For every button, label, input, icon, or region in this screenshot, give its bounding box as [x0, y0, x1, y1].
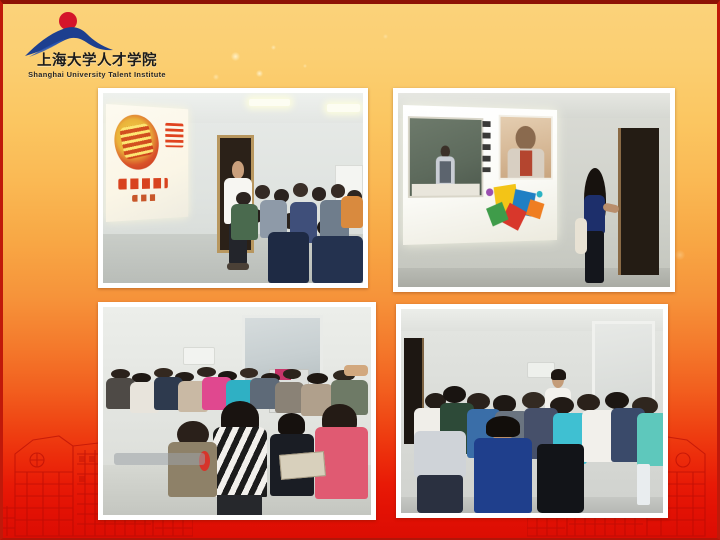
photo-top-left[interactable]: [98, 88, 368, 288]
audience-head: [443, 386, 467, 403]
foreground-man-blue: [474, 419, 532, 513]
foreground-torso: [414, 431, 466, 477]
bokeh-speck: [303, 64, 307, 68]
foreground-man-left: [414, 431, 466, 513]
photo-top-right-image: [398, 93, 670, 287]
slide-shape-dot: [486, 188, 494, 196]
logo-wave-icon: [25, 27, 113, 56]
logo-name-cn: 上海大学人才学院: [21, 54, 173, 69]
bokeh-speck: [231, 52, 240, 61]
foreground-hair: [486, 416, 521, 437]
presenter-bag: [575, 218, 587, 254]
audience-head: [283, 369, 302, 379]
chair-row: [114, 453, 205, 465]
slide-shape-dot: [537, 190, 543, 197]
photo-top-left-image: [103, 93, 363, 283]
slide-footer-text: [132, 194, 157, 202]
foreground-legs: [417, 475, 463, 513]
standing-presenter: [578, 171, 613, 284]
photo-top-right[interactable]: [393, 88, 675, 292]
chair-back: [537, 444, 584, 513]
audience-torso: [637, 413, 663, 467]
pointing-hand: [344, 365, 368, 376]
audience-torso: [231, 204, 258, 240]
photo-bottom-right[interactable]: [396, 304, 668, 518]
bokeh-speck: [256, 70, 263, 77]
foreground-torso: [168, 442, 217, 497]
audience-head: [312, 187, 327, 201]
logo-text: 上海大学人才学院 Shanghai University Talent Inst…: [21, 54, 173, 78]
audience-head: [236, 192, 251, 206]
water-bottle: [637, 464, 650, 505]
foreground-torso: [474, 438, 532, 513]
foreground-woman-striped: [210, 405, 269, 515]
audience-cluster: [228, 177, 363, 283]
projected-slide: [106, 104, 188, 222]
audience-head: [577, 394, 601, 411]
foreground-woman-left: [167, 423, 218, 515]
institute-logo: 上海大学人才学院 Shanghai University Talent Inst…: [15, 10, 175, 82]
audience-head: [293, 183, 308, 197]
slide-badge-graphic: [109, 112, 162, 174]
audience-torso: [341, 196, 363, 228]
audience-head: [307, 373, 328, 384]
audience-head: [522, 392, 546, 409]
projected-slide: [403, 105, 557, 245]
presenter-torso: [584, 195, 605, 233]
audience-head: [197, 367, 216, 377]
audience-head: [605, 392, 629, 409]
slide-photo-portrait: [499, 114, 553, 179]
audience-torso: [268, 232, 309, 283]
doorway: [618, 128, 659, 275]
slide-photo-classroom: [408, 116, 483, 198]
air-conditioner: [183, 347, 214, 366]
bokeh-speck: [675, 250, 685, 260]
audience-torso: [275, 382, 304, 413]
logo-name-en: Shanghai University Talent Institute: [21, 71, 173, 78]
presenter-legs: [585, 231, 603, 283]
ceiling-light: [327, 104, 361, 112]
audience-torso: [312, 236, 363, 283]
foreground-striped-top: [213, 427, 267, 498]
slide-vertical-caption: [483, 121, 491, 172]
slide-shape-orange: [526, 199, 544, 219]
standing-hair: [551, 369, 566, 380]
audience-head: [240, 368, 259, 378]
bokeh-speck: [213, 74, 219, 80]
foreground-hair: [278, 413, 304, 435]
presentation-slide: 上海大学人才学院 Shanghai University Talent Inst…: [0, 0, 720, 540]
slide-subtitle-text: [118, 179, 168, 190]
bokeh-speck: [383, 34, 388, 39]
foreground-legs: [217, 495, 262, 515]
notebook: [279, 451, 326, 480]
slide-title-text: [164, 124, 182, 149]
logo-sun-icon: [59, 12, 77, 30]
ceiling-light: [249, 99, 291, 107]
desk: [412, 183, 481, 196]
photo-bottom-left[interactable]: [98, 302, 376, 520]
audience-head: [255, 185, 270, 199]
photo-bottom-right-image: [401, 309, 663, 513]
bokeh-speck: [271, 45, 276, 50]
photo-bottom-left-image: [103, 307, 371, 515]
